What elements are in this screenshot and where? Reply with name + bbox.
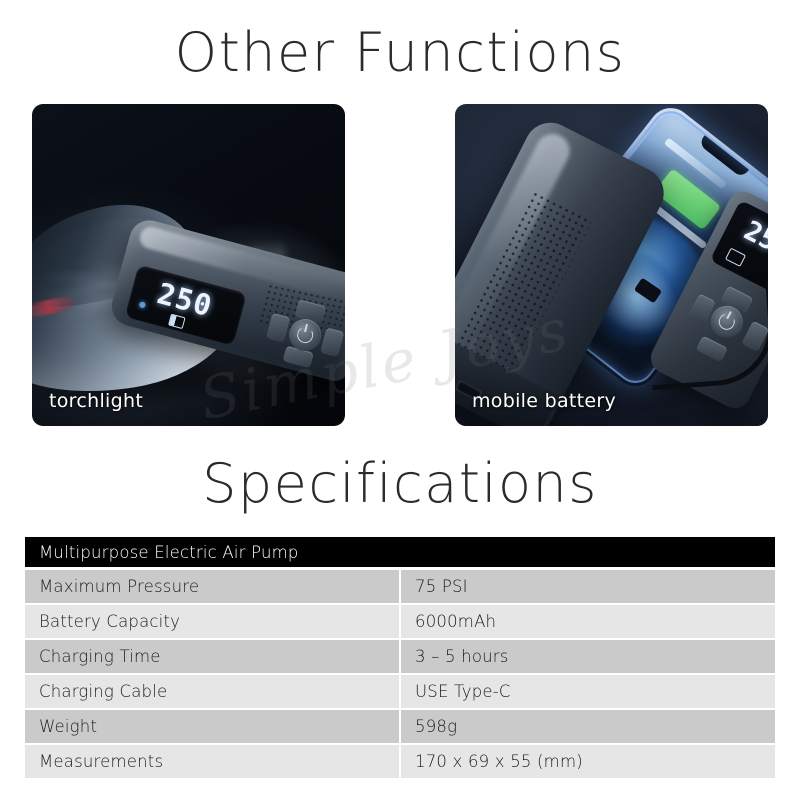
spec-value: 6000mAh [400, 604, 775, 639]
pump-button-right [320, 327, 344, 357]
panel-torchlight: 250 torchlight [32, 104, 345, 426]
specifications-table: Multipurpose Electric Air Pump Maximum P… [25, 537, 775, 780]
lcd-pressure-value: 250 [154, 276, 216, 323]
page-title-other-functions: Other Functions [0, 21, 800, 84]
spec-label: Charging Time [25, 639, 400, 674]
page-title-specifications: Specifications [0, 452, 800, 515]
spec-value: 170 x 69 x 55 (mm) [400, 744, 775, 779]
table-row: Battery Capacity6000mAh [25, 604, 775, 639]
table-row: Measurements170 x 69 x 55 (mm) [25, 744, 775, 779]
spec-label: Measurements [25, 744, 400, 779]
table-row: Charging CableUSE Type-C [25, 674, 775, 709]
lcd-unit-indicator [139, 301, 146, 308]
table-header-row: Multipurpose Electric Air Pump [25, 537, 775, 569]
spec-label: Weight [25, 709, 400, 744]
spec-value: 75 PSI [400, 569, 775, 605]
spec-label: Battery Capacity [25, 604, 400, 639]
power-icon [295, 325, 315, 345]
spec-value: 598g [400, 709, 775, 744]
table-row: Charging Time3 – 5 hours [25, 639, 775, 674]
spec-value: USE Type-C [400, 674, 775, 709]
panel-mobile-battery: 250 mobile battery [455, 104, 768, 426]
lcd-battery-icon [168, 314, 186, 329]
lcd-battery-icon [725, 248, 746, 267]
spec-label: Maximum Pressure [25, 569, 400, 605]
spec-value: 3 – 5 hours [400, 639, 775, 674]
panel-label-mobile-battery: mobile battery [472, 390, 616, 412]
panel-label-torchlight: torchlight [49, 390, 143, 412]
table-title: Multipurpose Electric Air Pump [25, 537, 775, 569]
table-row: Weight598g [25, 709, 775, 744]
table-row: Maximum Pressure75 PSI [25, 569, 775, 605]
spec-label: Charging Cable [25, 674, 400, 709]
